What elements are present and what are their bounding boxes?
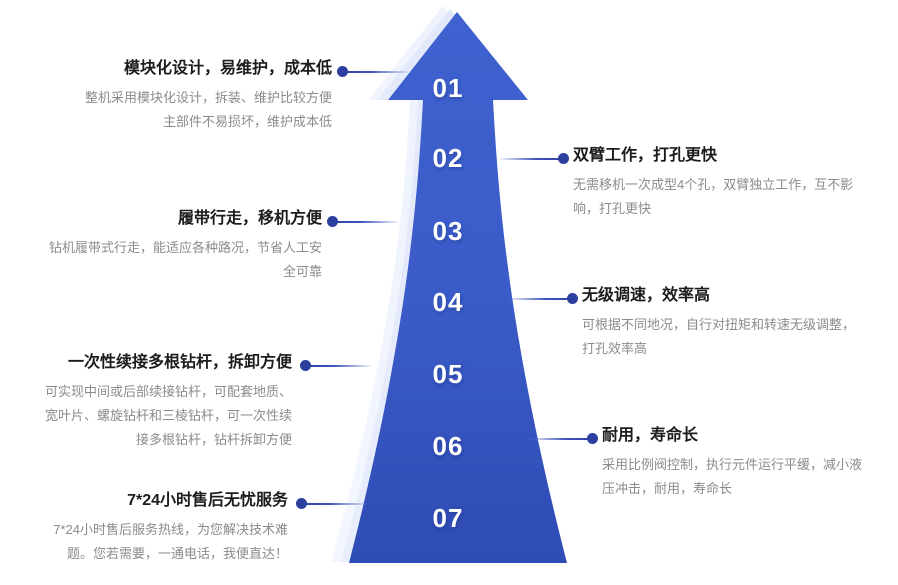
feature-item-01: 模块化设计，易维护，成本低 整机采用模块化设计，拆装、维护比较方便 主部件不易损… <box>0 58 332 134</box>
infographic-root: 01 02 03 04 05 06 07 模块化设计，易维护，成本低 整机采用模… <box>0 0 898 585</box>
feature-desc-line: 7*24小时售后服务热线，为您解决技术难 <box>0 518 288 542</box>
feature-desc-02: 无需移机一次成型4个孔，双臂独立工作，互不影 响，打孔更快 <box>573 173 893 221</box>
connector-dot <box>300 360 311 371</box>
feature-desc-line: 压冲击，耐用，寿命长 <box>602 477 894 501</box>
connector-dot <box>558 153 569 164</box>
connector-line-03 <box>330 216 398 228</box>
connector-dot <box>296 498 307 509</box>
connector-dot <box>337 66 348 77</box>
feature-desc-line: 采用比例阀控制，执行元件运行平缓，减小液 <box>602 453 894 477</box>
feature-desc-line: 无需移机一次成型4个孔，双臂独立工作，互不影 <box>573 173 893 197</box>
connector-line-01 <box>340 66 408 78</box>
feature-title-04: 无级调速，效率高 <box>582 285 892 307</box>
connector-stroke <box>509 298 575 300</box>
connector-stroke <box>330 221 398 223</box>
feature-item-06: 耐用，寿命长 采用比例阀控制，执行元件运行平缓，减小液 压冲击，耐用，寿命长 <box>602 425 894 501</box>
connector-dot <box>327 216 338 227</box>
feature-desc-line: 打孔效率高 <box>582 337 892 361</box>
feature-title-03: 履带行走，移机方便 <box>0 208 322 230</box>
feature-title-05: 一次性续接多根钻杆，拆卸方便 <box>0 352 292 374</box>
feature-title-06: 耐用，寿命长 <box>602 425 894 447</box>
feature-item-03: 履带行走，移机方便 钻机履带式行走，能适应各种路况，节省人工安 全可靠 <box>0 208 322 284</box>
connector-line-04 <box>509 293 575 305</box>
feature-desc-06: 采用比例阀控制，执行元件运行平缓，减小液 压冲击，耐用，寿命长 <box>602 453 894 501</box>
connector-stroke <box>299 503 367 505</box>
feature-desc-line: 响，打孔更快 <box>573 197 893 221</box>
feature-desc-line: 题。您若需要，一通电话，我便直达！ <box>0 542 288 566</box>
connector-line-02 <box>500 153 566 165</box>
feature-desc-line: 可根据不同地况，自行对扭矩和转速无级调整， <box>582 313 892 337</box>
feature-item-05: 一次性续接多根钻杆，拆卸方便 可实现中间或后部续接钻杆，可配套地质、 宽叶片、螺… <box>0 352 292 453</box>
feature-desc-line: 整机采用模块化设计，拆装、维护比较方便 <box>0 86 332 110</box>
feature-item-04: 无级调速，效率高 可根据不同地况，自行对扭矩和转速无级调整， 打孔效率高 <box>582 285 892 361</box>
connector-stroke <box>529 438 595 440</box>
feature-desc-04: 可根据不同地况，自行对扭矩和转速无级调整， 打孔效率高 <box>582 313 892 361</box>
feature-item-07: 7*24小时售后无忧服务 7*24小时售后服务热线，为您解决技术难 题。您若需要… <box>0 490 288 566</box>
feature-desc-line: 全可靠 <box>0 260 322 284</box>
feature-desc-line: 接多根钻杆，钻杆拆卸方便 <box>0 428 292 452</box>
feature-item-02: 双臂工作，打孔更快 无需移机一次成型4个孔，双臂独立工作，互不影 响，打孔更快 <box>573 145 893 221</box>
feature-title-07: 7*24小时售后无忧服务 <box>0 490 288 512</box>
connector-line-07 <box>299 498 367 510</box>
feature-desc-03: 钻机履带式行走，能适应各种路况，节省人工安 全可靠 <box>0 236 322 284</box>
connector-stroke <box>340 71 408 73</box>
feature-desc-01: 整机采用模块化设计，拆装、维护比较方便 主部件不易损坏，维护成本低 <box>0 86 332 134</box>
feature-desc-05: 可实现中间或后部续接钻杆，可配套地质、 宽叶片、螺旋钻杆和三棱钻杆，可一次性续 … <box>0 380 292 452</box>
feature-desc-07: 7*24小时售后服务热线，为您解决技术难 题。您若需要，一通电话，我便直达！ <box>0 518 288 566</box>
feature-desc-line: 钻机履带式行走，能适应各种路况，节省人工安 <box>0 236 322 260</box>
feature-desc-line: 宽叶片、螺旋钻杆和三棱钻杆，可一次性续 <box>0 404 292 428</box>
feature-desc-line: 主部件不易损坏，维护成本低 <box>0 110 332 134</box>
connector-dot <box>567 293 578 304</box>
connector-dot <box>587 433 598 444</box>
connector-stroke <box>303 365 371 367</box>
feature-title-01: 模块化设计，易维护，成本低 <box>0 58 332 80</box>
connector-stroke <box>500 158 566 160</box>
feature-desc-line: 可实现中间或后部续接钻杆，可配套地质、 <box>0 380 292 404</box>
connector-line-05 <box>303 360 371 372</box>
connector-line-06 <box>529 433 595 445</box>
feature-title-02: 双臂工作，打孔更快 <box>573 145 893 167</box>
